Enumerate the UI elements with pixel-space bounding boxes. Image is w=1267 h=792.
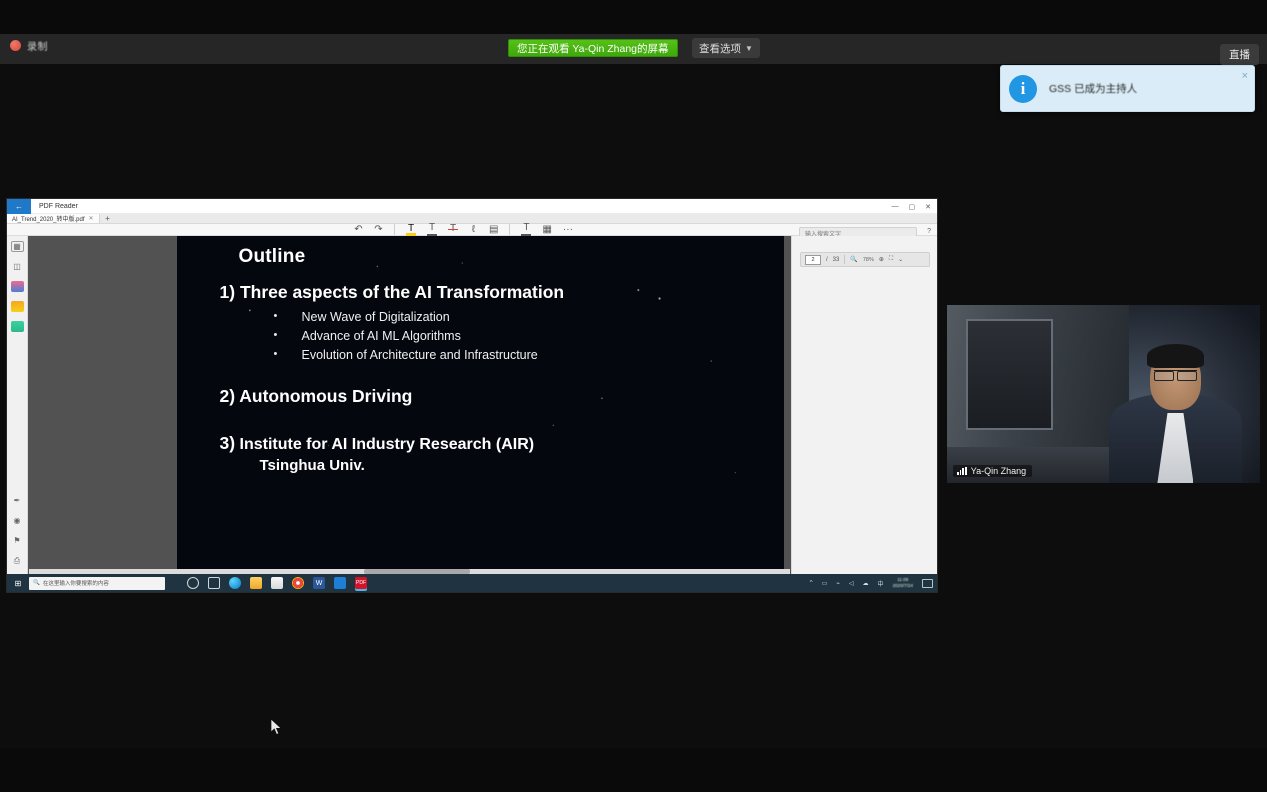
- search-icon[interactable]: 🔍: [850, 256, 857, 263]
- minimize-icon[interactable]: —: [892, 203, 899, 210]
- eye-icon[interactable]: ◉: [11, 515, 24, 526]
- list-item: Advance of AI ML Algorithms: [274, 329, 784, 343]
- bookmark-icon[interactable]: ⚑: [11, 535, 24, 546]
- task-view-icon[interactable]: [208, 577, 220, 589]
- system-tray: ^ ▭ ⌁ ◁ ☁ 中 11:09 2020/7/24: [810, 577, 933, 588]
- share-banner-text: 您正在观看 Ya-Qin Zhang的屏幕: [517, 41, 669, 56]
- toolbar-divider: [844, 255, 845, 264]
- section-1-title: Three aspects of the AI Transformation: [240, 282, 564, 302]
- person-hair: [1147, 344, 1204, 368]
- thumbnails-icon[interactable]: ▦: [11, 241, 24, 252]
- section-3-title: Institute for AI Industry Research (AIR): [240, 436, 535, 453]
- pdf-document-tab[interactable]: AI_Trend_2020_转中版.pdf ✕: [7, 214, 100, 223]
- strikethrough-bar: [448, 229, 458, 231]
- top-letterbox: [0, 0, 1267, 34]
- tray-volume-icon[interactable]: ◁: [849, 580, 854, 587]
- record-dot-icon: [10, 40, 21, 51]
- recording-label: 录制: [27, 38, 48, 53]
- highlight-icon[interactable]: T: [406, 224, 416, 236]
- undo-icon[interactable]: ↶: [354, 225, 363, 235]
- text-box-icon[interactable]: T: [521, 223, 531, 236]
- taskbar-clock[interactable]: 11:09 2020/7/24: [893, 577, 913, 588]
- file-explorer-icon[interactable]: [250, 577, 262, 589]
- signature-icon[interactable]: ✒: [11, 495, 24, 506]
- taskbar-pinned-apps: W PDF: [187, 577, 367, 589]
- search-icon: 🔍: [33, 580, 40, 586]
- highlight-tool-icon[interactable]: [11, 281, 24, 292]
- tray-onedrive-icon[interactable]: ☁: [863, 580, 869, 587]
- pdf-body: ▦ ◫ ✒ ◉ ⚑ ⎙ Outline 1): [7, 236, 937, 574]
- windows-taskbar: ⊞ 🔍 在这里输入你要搜索的内容 W PDF ^ ▭ ⌁ ◁: [7, 574, 937, 592]
- current-page-input[interactable]: 2: [805, 255, 821, 265]
- stamp-icon[interactable]: ▤: [489, 225, 498, 235]
- slide-title: Outline: [239, 246, 784, 268]
- underline-icon[interactable]: T: [427, 223, 437, 236]
- bottom-letterbox: [0, 748, 1267, 792]
- video-background-door: [966, 319, 1054, 429]
- glasses-icon: [1154, 370, 1196, 379]
- slide-section-2: 2) Autonomous Driving: [220, 386, 784, 407]
- recording-indicator[interactable]: 录制: [10, 38, 48, 53]
- list-item: New Wave of Digitalization: [274, 310, 784, 324]
- maximize-icon[interactable]: ▢: [909, 203, 916, 211]
- tray-ime-icon[interactable]: 中: [878, 579, 884, 588]
- mouse-cursor: [271, 719, 283, 737]
- slide-content: Outline 1) Three aspects of the AI Trans…: [177, 236, 784, 474]
- chevron-down-icon[interactable]: ⌄: [898, 256, 903, 263]
- signal-bars-icon: [957, 467, 967, 475]
- toolbar-divider: [509, 224, 510, 235]
- fit-page-icon[interactable]: ⛶: [889, 256, 893, 263]
- clock-date: 2020/7/24: [893, 583, 913, 589]
- text-box-glyph: T: [523, 223, 529, 233]
- participant-name-badge: Ya-Qin Zhang: [953, 465, 1032, 477]
- chevron-down-icon: ▼: [745, 44, 753, 53]
- close-icon[interactable]: ×: [1242, 70, 1248, 82]
- page-zoom-toolbar: 2 / 33 🔍 78% ⊕ ⛶ ⌄: [800, 252, 930, 267]
- window-controls: — ▢ ✕: [892, 199, 936, 214]
- image-icon[interactable]: ▦: [542, 225, 551, 235]
- slide-section-1: 1) Three aspects of the AI Transformatio…: [220, 282, 784, 303]
- pdf-left-sidebar: ▦ ◫ ✒ ◉ ⚑ ⎙: [7, 236, 28, 574]
- host-change-toast: i GSS 已成为主持人 ×: [1000, 65, 1255, 112]
- video-person: [1100, 330, 1250, 483]
- pdf-reader-window: ← PDF Reader — ▢ ✕ AI_Trend_2020_转中版.pdf…: [6, 198, 938, 593]
- back-arrow-icon[interactable]: ←: [7, 199, 31, 214]
- mail-icon[interactable]: [334, 577, 346, 589]
- total-pages: 33: [833, 257, 840, 263]
- pdf-toolbar: ↶ ↷ T T T: [7, 224, 937, 236]
- print-icon[interactable]: ⎙: [11, 555, 24, 566]
- note-tool-icon[interactable]: [11, 301, 24, 312]
- redo-icon[interactable]: ↷: [374, 225, 383, 235]
- view-options-button[interactable]: 查看选项 ▼: [692, 38, 760, 58]
- pencil-icon[interactable]: ℓ: [469, 225, 478, 235]
- pdf-sidebar-bottom: ✒ ◉ ⚑ ⎙: [11, 495, 24, 566]
- pdf-titlebar: ← PDF Reader — ▢ ✕: [7, 199, 937, 214]
- live-stream-label: 直播: [1229, 49, 1250, 61]
- toolbar-divider: [394, 224, 395, 235]
- participant-name: Ya-Qin Zhang: [971, 466, 1026, 476]
- list-item: Evolution of Architecture and Infrastruc…: [274, 348, 784, 362]
- tray-overflow-icon[interactable]: ^: [810, 580, 813, 586]
- slide-section-3: 3) Institute for AI Industry Research (A…: [220, 433, 784, 454]
- section-2-title: Autonomous Driving: [239, 386, 412, 406]
- tray-battery-icon[interactable]: ▭: [822, 580, 828, 587]
- taskbar-search-placeholder: 在这里输入你要搜索的内容: [43, 579, 109, 587]
- stamp-tool-icon[interactable]: [11, 321, 24, 332]
- pdf-reader-icon[interactable]: PDF: [355, 577, 367, 589]
- toast-message: GSS 已成为主持人: [1049, 81, 1137, 96]
- microsoft-store-icon[interactable]: [271, 577, 283, 589]
- zoom-level-label: 78%: [863, 257, 874, 263]
- close-icon[interactable]: ✕: [925, 203, 931, 211]
- chrome-icon[interactable]: [292, 577, 304, 589]
- windows-start-icon[interactable]: ⊞: [7, 574, 29, 592]
- new-tab-button[interactable]: +: [100, 214, 116, 223]
- taskbar-search-input[interactable]: 🔍 在这里输入你要搜索的内容: [29, 577, 165, 590]
- underline-glyph: T: [429, 223, 435, 233]
- slide-bullet-list: New Wave of Digitalization Advance of AI…: [274, 310, 784, 362]
- close-icon[interactable]: ✕: [89, 215, 94, 222]
- participant-video-tile[interactable]: Ya-Qin Zhang: [947, 305, 1260, 483]
- more-tools-icon[interactable]: ···: [563, 225, 573, 235]
- action-center-icon[interactable]: [922, 579, 933, 588]
- strikethrough-icon[interactable]: T: [448, 224, 458, 236]
- view-options-label: 查看选项: [699, 41, 741, 56]
- screen-root: 录制 您正在观看 Ya-Qin Zhang的屏幕 查看选项 ▼ 直播 i GSS…: [0, 0, 1267, 792]
- section-3-subtitle: Tsinghua Univ.: [260, 457, 784, 474]
- word-icon[interactable]: W: [313, 577, 325, 589]
- section-2-number: 2): [220, 386, 236, 406]
- pdf-right-panel: 2 / 33 🔍 78% ⊕ ⛶ ⌄: [791, 236, 937, 574]
- zoom-in-icon[interactable]: ⊕: [879, 256, 884, 263]
- screen-share-banner: 您正在观看 Ya-Qin Zhang的屏幕: [508, 39, 678, 57]
- annotation-tools-group: ↶ ↷ T T T: [354, 223, 573, 236]
- cortana-icon[interactable]: [187, 577, 199, 589]
- section-3-number: 3): [220, 433, 236, 453]
- page-separator: /: [826, 257, 828, 263]
- pdf-tab-filename: AI_Trend_2020_转中版.pdf: [12, 214, 85, 223]
- section-1-number: 1): [220, 282, 236, 302]
- help-icon[interactable]: ?: [927, 228, 931, 235]
- pdf-app-title: PDF Reader: [39, 203, 78, 210]
- tray-network-icon[interactable]: ⌁: [836, 580, 840, 587]
- live-stream-button[interactable]: 直播: [1220, 44, 1259, 65]
- presentation-slide: Outline 1) Three aspects of the AI Trans…: [177, 236, 784, 574]
- edge-icon[interactable]: [229, 577, 241, 589]
- bookmarks-panel-icon[interactable]: ◫: [11, 261, 24, 272]
- info-icon: i: [1009, 75, 1037, 103]
